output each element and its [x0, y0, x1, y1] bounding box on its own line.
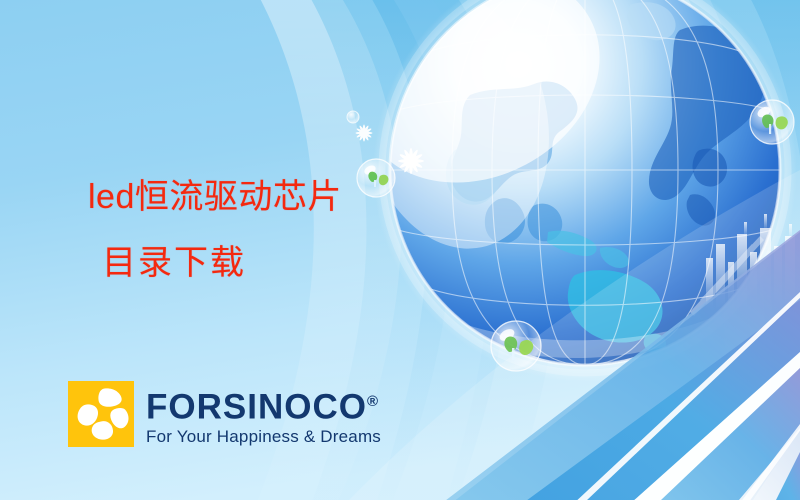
- headline-line-2: 目录下载: [88, 230, 428, 296]
- bubble-icon: [347, 111, 359, 123]
- logo-tagline: For Your Happiness & Dreams: [146, 427, 381, 447]
- promo-banner: led恒流驱动芯片 目录下载 FORSINOCO® For Your Happi…: [0, 0, 800, 500]
- bubble-icon: [750, 100, 794, 144]
- logo-wordmark: FORSINOCO®: [146, 384, 381, 426]
- headline-line-1: led恒流驱动芯片: [88, 178, 342, 216]
- headline-text: led恒流驱动芯片 目录下载: [88, 164, 428, 296]
- bubble-icon: [491, 321, 541, 371]
- brand-logo[interactable]: FORSINOCO® For Your Happiness & Dreams: [68, 381, 381, 447]
- registered-trademark-icon: ®: [367, 393, 378, 410]
- logo-wordmark-text: FORSINOCO: [146, 388, 367, 427]
- four-petal-pinwheel-icon: [68, 381, 134, 447]
- logo-text-block: FORSINOCO® For Your Happiness & Dreams: [146, 381, 381, 447]
